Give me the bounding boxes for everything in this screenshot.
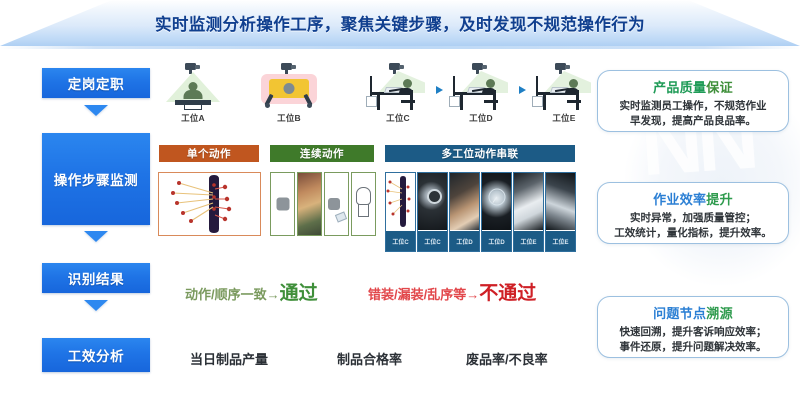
benefit-card-quality-body: 实时监测员工操作，不规范作业 早发现，提高产品良品率。 bbox=[605, 99, 781, 129]
workstation-d-illustration bbox=[446, 62, 516, 112]
workstation-a: 工位A bbox=[158, 62, 228, 128]
camera-icon bbox=[389, 62, 405, 71]
workstation-flow-arrow-2-icon bbox=[519, 86, 526, 94]
workstation-d: 工位D bbox=[446, 62, 516, 128]
panel-multi-4-label: 工位D bbox=[482, 231, 511, 251]
tool-tip-right-icon bbox=[307, 103, 312, 108]
result-fail: 错装/漏装/乱序等→不通过 bbox=[368, 278, 536, 305]
workstation-b-label: 工位B bbox=[254, 112, 324, 124]
panel-multi-4[interactable]: 工位D bbox=[481, 172, 512, 252]
benefit-card-quality-title-a: 产品质量 bbox=[653, 80, 706, 95]
workstation-e: 工位E bbox=[529, 62, 599, 128]
workstation-row: 工位A 工位B bbox=[158, 62, 578, 128]
flow-stage-4[interactable]: 工效分析 bbox=[42, 338, 150, 372]
result-fail-condition: 错装/漏装/乱序等→ bbox=[368, 287, 479, 302]
workstation-e-label: 工位E bbox=[529, 112, 599, 124]
skeleton-thumb bbox=[386, 173, 415, 230]
person-head-icon bbox=[403, 79, 412, 88]
workstation-c: 工位C bbox=[363, 62, 433, 128]
gray-part-thumb bbox=[271, 173, 294, 235]
desk-leg-icon bbox=[543, 94, 546, 110]
benefit-card-efficiency-body: 实时异常，加强质量管控； 工效统计，量化指标，提升效率。 bbox=[605, 211, 781, 241]
category-continuous-action[interactable]: 连续动作 bbox=[270, 145, 374, 162]
panel-multi-6[interactable]: 工位E bbox=[545, 172, 576, 252]
metric-daily-output: 当日制品产量 bbox=[190, 349, 268, 368]
banner-underline bbox=[0, 46, 800, 49]
panel-multi-2[interactable]: 工位C bbox=[417, 172, 448, 252]
workbench-panel-icon bbox=[184, 105, 202, 110]
workstation-c-illustration bbox=[363, 62, 433, 112]
flow-arrow-down-3-icon bbox=[84, 300, 108, 311]
flow-stage-2[interactable]: 操作步骤监测 bbox=[42, 133, 150, 225]
panel-continuous-4[interactable] bbox=[351, 172, 376, 236]
flow-stage-3[interactable]: 识别结果 bbox=[42, 263, 150, 293]
panel-multi-1-label: 工位C bbox=[386, 231, 415, 251]
benefit-card-traceability-title: 问题节点溯源 bbox=[605, 303, 781, 322]
panel-single-action[interactable] bbox=[158, 172, 261, 236]
panel-multi-5[interactable]: 工位E bbox=[513, 172, 544, 252]
camera-icon bbox=[185, 62, 201, 71]
benefit-card-efficiency-line1: 实时异常，加强质量管控； bbox=[605, 211, 781, 226]
person-head-icon bbox=[569, 79, 578, 88]
benefit-card-traceability-title-a: 问题节点 bbox=[653, 306, 706, 321]
part-icon bbox=[284, 83, 295, 94]
workstation-flow-arrow-1-icon bbox=[436, 86, 443, 94]
clock-dark-thumb bbox=[482, 173, 511, 230]
benefit-card-traceability-line1: 快速回溯，提升客诉响应效率； bbox=[605, 325, 781, 340]
metric-pass-rate: 制品合格率 bbox=[337, 349, 402, 368]
benefit-card-quality[interactable]: 产品质量保证 实时监测员工操作，不规范作业 早发现，提高产品良品率。 bbox=[597, 70, 789, 132]
chair-seat-icon bbox=[484, 100, 498, 103]
camera-icon bbox=[281, 62, 297, 71]
benefit-card-efficiency-title-a: 作业效率 bbox=[653, 192, 706, 207]
tool-dark-thumb bbox=[546, 173, 575, 230]
result-pass: 动作/顺序一致→通过 bbox=[185, 278, 318, 305]
benefit-card-efficiency-title-b: 提升 bbox=[706, 192, 733, 207]
workstation-a-label: 工位A bbox=[158, 112, 228, 124]
panel-continuous-3[interactable] bbox=[324, 172, 349, 236]
result-pass-condition: 动作/顺序一致→ bbox=[185, 287, 280, 302]
benefit-card-efficiency-line2: 工效统计，量化指标，提升效率。 bbox=[605, 226, 781, 241]
benefit-card-traceability-line2: 事件还原，提升问题解决效率。 bbox=[605, 340, 781, 355]
person-head-icon bbox=[486, 79, 495, 88]
hand-outline-thumb bbox=[352, 173, 375, 235]
glove-dark-thumb bbox=[514, 173, 543, 230]
slide-canvas: NN 实时监测分析操作工序，聚焦关键步骤，及时发现不规范操作行为 定岗定职 操作… bbox=[0, 0, 800, 400]
flow-stage-1[interactable]: 定岗定职 bbox=[42, 68, 150, 98]
metric-scrap-rate: 废品率/不良率 bbox=[466, 349, 548, 368]
flow-arrow-down-1-icon bbox=[84, 105, 108, 116]
workstation-c-label: 工位C bbox=[363, 112, 433, 124]
category-multi-station-chain[interactable]: 多工位动作串联 bbox=[385, 145, 575, 162]
hand-parts-photo-thumb bbox=[298, 173, 321, 235]
benefit-card-efficiency[interactable]: 作业效率提升 实时异常，加强质量管控； 工效统计，量化指标，提升效率。 bbox=[597, 182, 789, 244]
desk-leg-icon bbox=[377, 94, 380, 110]
cabinet-icon bbox=[532, 96, 543, 107]
panel-multi-1[interactable]: 工位C bbox=[385, 172, 416, 252]
benefit-card-traceability-body: 快速回溯，提升客诉响应效率； 事件还原，提升问题解决效率。 bbox=[605, 325, 781, 355]
camera-icon bbox=[555, 62, 571, 71]
hand-dark-thumb bbox=[450, 173, 479, 230]
benefit-card-quality-title: 产品质量保证 bbox=[605, 77, 781, 96]
panel-multi-3[interactable]: 工位D bbox=[449, 172, 480, 252]
result-pass-verdict: 通过 bbox=[280, 283, 318, 304]
benefit-card-efficiency-title: 作业效率提升 bbox=[605, 189, 781, 208]
cabinet-icon bbox=[366, 96, 377, 107]
panel-continuous-1[interactable] bbox=[270, 172, 295, 236]
chair-seat-icon bbox=[401, 100, 415, 103]
workstation-b-illustration bbox=[254, 62, 324, 112]
panel-multi-2-label: 工位C bbox=[418, 231, 447, 251]
process-flow-rail: 定岗定职 操作步骤监测 识别结果 工效分析 bbox=[42, 58, 150, 388]
cabinet-icon bbox=[449, 96, 460, 107]
flow-arrow-down-2-icon bbox=[84, 231, 108, 242]
workstation-d-label: 工位D bbox=[446, 112, 516, 124]
banner-title: 实时监测分析操作工序，聚焦关键步骤，及时发现不规范操作行为 bbox=[0, 0, 800, 46]
workstation-b: 工位B bbox=[254, 62, 324, 128]
benefit-card-traceability-title-b: 溯源 bbox=[706, 306, 733, 321]
panel-multi-3-label: 工位D bbox=[450, 231, 479, 251]
workstation-e-illustration bbox=[529, 62, 599, 112]
benefit-card-quality-line2: 早发现，提高产品良品率。 bbox=[605, 114, 781, 129]
panel-multi-5-label: 工位E bbox=[514, 231, 543, 251]
person-body-icon bbox=[184, 90, 203, 99]
benefit-card-traceability[interactable]: 问题节点溯源 快速回溯，提升客诉响应效率； 事件还原，提升问题解决效率。 bbox=[597, 296, 789, 358]
hand-skeleton-thumb bbox=[159, 173, 260, 235]
benefit-card-quality-line1: 实时监测员工操作，不规范作业 bbox=[605, 99, 781, 114]
category-single-action[interactable]: 单个动作 bbox=[159, 145, 259, 162]
result-fail-verdict: 不通过 bbox=[479, 283, 536, 304]
gauge-dark-thumb bbox=[418, 173, 447, 230]
panel-continuous-2[interactable] bbox=[297, 172, 322, 236]
tool-tip-left-icon bbox=[265, 103, 270, 108]
header-banner: 实时监测分析操作工序，聚焦关键步骤，及时发现不规范操作行为 bbox=[0, 0, 800, 50]
desk-leg-icon bbox=[460, 94, 463, 110]
part-with-tag-thumb bbox=[325, 173, 348, 235]
workstation-a-illustration bbox=[158, 62, 228, 112]
camera-icon bbox=[472, 62, 488, 71]
panel-multi-6-label: 工位E bbox=[546, 231, 575, 251]
chair-seat-icon bbox=[567, 100, 581, 103]
benefit-card-quality-title-b: 保证 bbox=[706, 80, 733, 95]
